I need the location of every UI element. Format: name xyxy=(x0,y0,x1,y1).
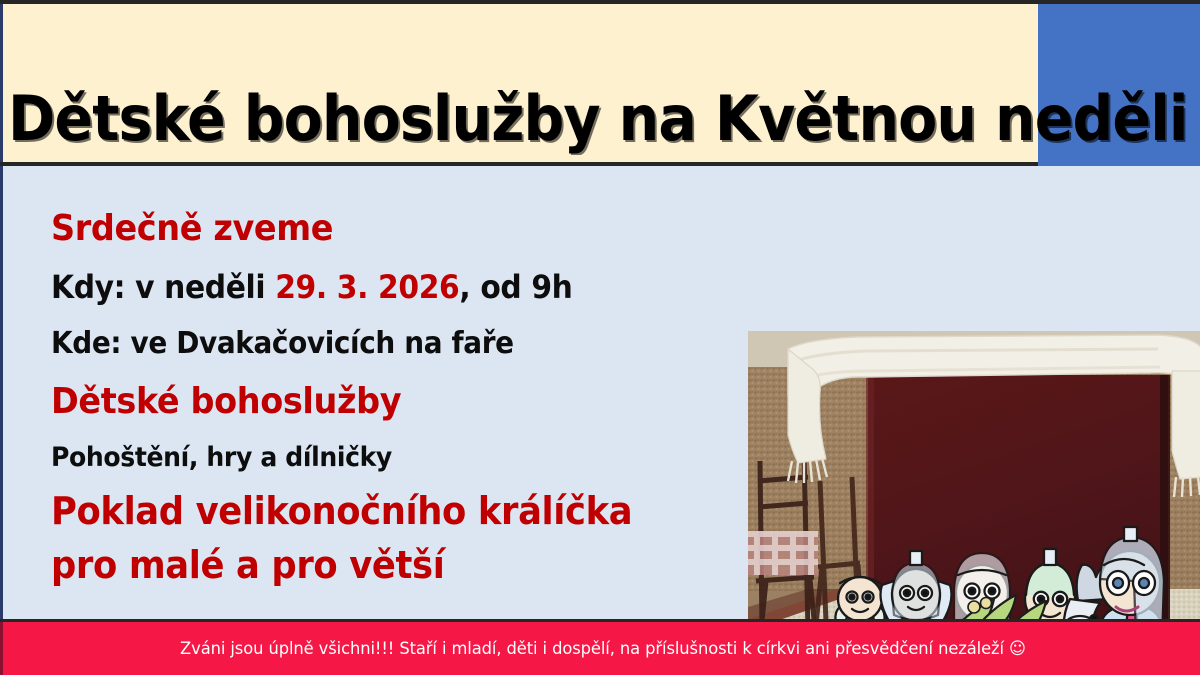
treasure-heading: Poklad velikonočního králíčka pro malé a… xyxy=(51,484,702,592)
poster: Dětské bohoslužby na Květnou neděli Srde… xyxy=(0,0,1200,675)
when-prefix: Kdy: v neděli xyxy=(51,268,275,306)
service-heading: Dětské bohoslužby xyxy=(51,372,693,432)
where-line: Kde: ve Dvakačovicích na faře xyxy=(51,316,693,372)
refreshments-line: Pohoštění, hry a dílničky xyxy=(51,432,693,484)
when-line: Kdy: v neděli 29. 3. 2026, od 9h xyxy=(51,258,693,316)
footer-message: Zváni jsou úplně všichni!!! Staří i mlad… xyxy=(27,622,1179,675)
when-date: 29. 3. 2026 xyxy=(275,268,459,306)
page-title: Dětské bohoslužby na Květnou neděli xyxy=(8,86,983,152)
invite-heading: Srdečně zveme xyxy=(51,200,693,258)
information-list: Srdečně zveme Kdy: v neděli 29. 3. 2026,… xyxy=(51,200,741,592)
footer-band: Zváni jsou úplně všichni!!! Staří i mlad… xyxy=(0,622,1200,675)
when-suffix: , od 9h xyxy=(459,268,572,306)
body-area: Srdečně zveme Kdy: v neděli 29. 3. 2026,… xyxy=(0,166,1200,622)
